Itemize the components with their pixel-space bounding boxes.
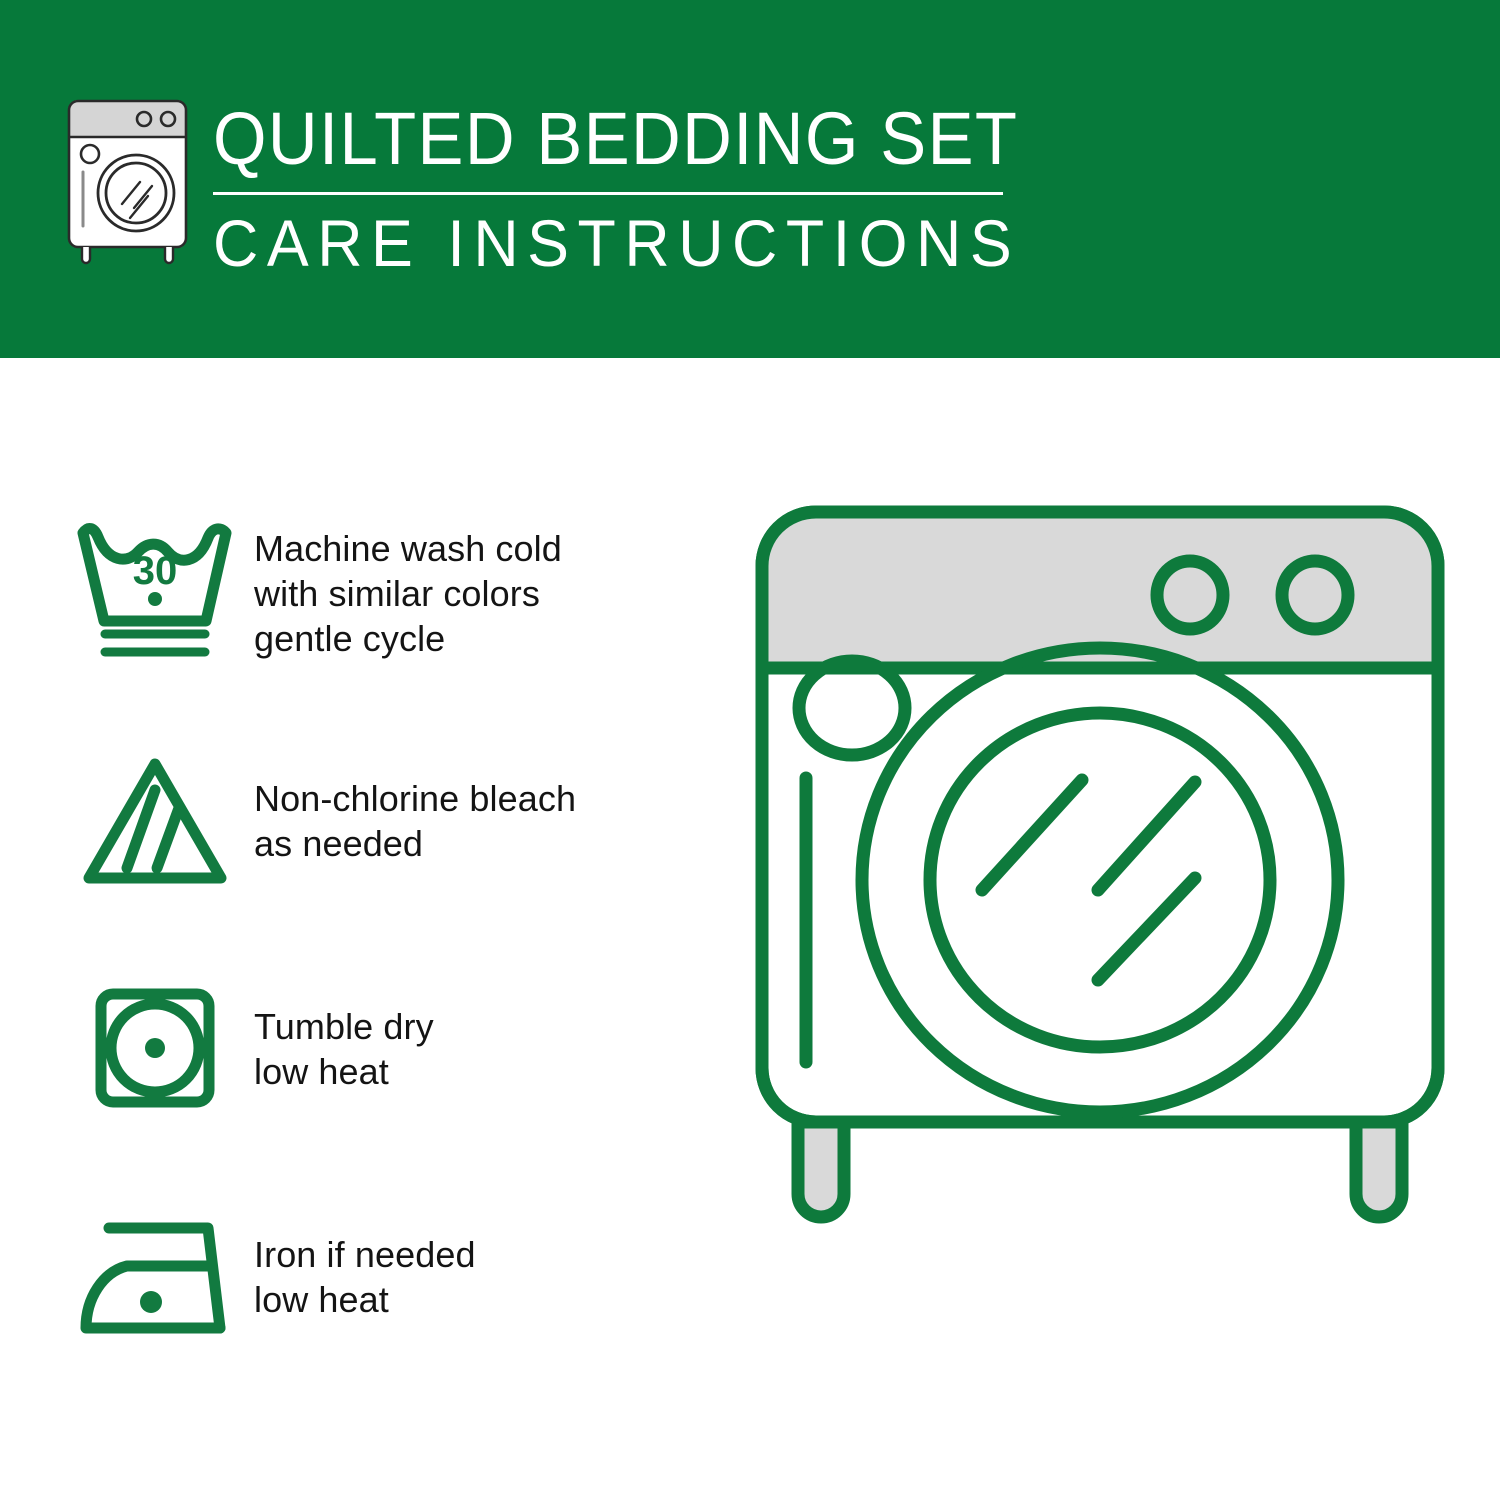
care-line: Non-chlorine bleach [254,776,576,821]
care-symbol-slot [70,978,240,1120]
washer-leg-left [798,1122,844,1217]
page-title: QUILTED BEDDING SET [213,102,1018,176]
care-instructions-page: QUILTED BEDDING SET CARE INSTRUCTIONS 30 [0,0,1500,1500]
care-line: Tumble dry [254,1004,434,1049]
low-heat-dot [145,1038,165,1058]
care-text-machine-wash: Machine wash cold with similar colors ge… [254,526,562,661]
washing-machine-illustration [740,490,1460,1450]
care-line: with similar colors [254,571,562,616]
header-band: QUILTED BEDDING SET CARE INSTRUCTIONS [0,0,1500,358]
care-row-machine-wash: 30 Machine wash cold with similar colors… [70,505,710,681]
page-subtitle: CARE INSTRUCTIONS [213,209,1036,277]
care-symbol-slot [70,1206,240,1348]
care-line: gentle cycle [254,616,562,661]
care-line: low heat [254,1277,476,1322]
care-symbol-slot [70,750,240,892]
wash-temp-value: 30 [133,549,178,593]
care-text-bleach: Non-chlorine bleach as needed [254,776,576,866]
machine-wash-30-gentle-icon: 30 [75,522,235,664]
non-chlorine-bleach-icon [75,750,235,892]
care-symbol-slot: 30 [70,522,240,664]
care-line: Machine wash cold [254,526,562,571]
care-row-iron: Iron if needed low heat [70,1189,710,1365]
low-heat-dot [140,1291,162,1313]
care-instruction-list: 30 Machine wash cold with similar colors… [70,505,710,1365]
header-content: QUILTED BEDDING SET CARE INSTRUCTIONS [60,96,1079,277]
care-text-tumble-dry: Tumble dry low heat [254,1004,434,1094]
iron-low-icon [73,1206,238,1348]
gentle-cycle-dot [148,592,162,606]
care-text-iron: Iron if needed low heat [254,1232,476,1322]
care-line: low heat [254,1049,434,1094]
title-divider [213,192,1003,195]
washer-leg-right [1356,1122,1402,1217]
washing-machine-icon [60,96,195,266]
care-row-bleach: Non-chlorine bleach as needed [70,733,710,909]
washing-machine-drawing [740,490,1460,1450]
care-line: Iron if needed [254,1232,476,1277]
care-row-tumble-dry: Tumble dry low heat [70,961,710,1137]
tumble-dry-low-icon [75,978,235,1120]
header-text-block: QUILTED BEDDING SET CARE INSTRUCTIONS [213,96,1079,277]
care-line: as needed [254,821,576,866]
